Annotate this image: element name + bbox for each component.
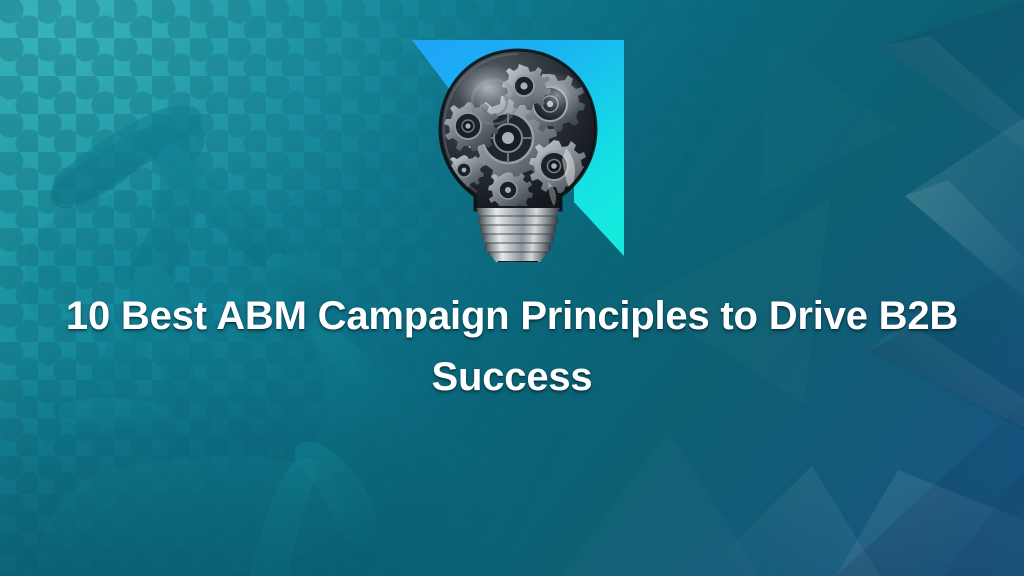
lightbulb-shape <box>440 50 596 262</box>
lightbulb-screw-base <box>476 208 560 262</box>
lightbulb-gears-logo <box>398 30 638 262</box>
page-title: 10 Best ABM Campaign Principles to Drive… <box>62 286 962 408</box>
title-banner: 10 Best ABM Campaign Principles to Drive… <box>0 0 1024 576</box>
base-contact-tip <box>498 261 538 262</box>
title-block: 10 Best ABM Campaign Principles to Drive… <box>62 286 962 408</box>
